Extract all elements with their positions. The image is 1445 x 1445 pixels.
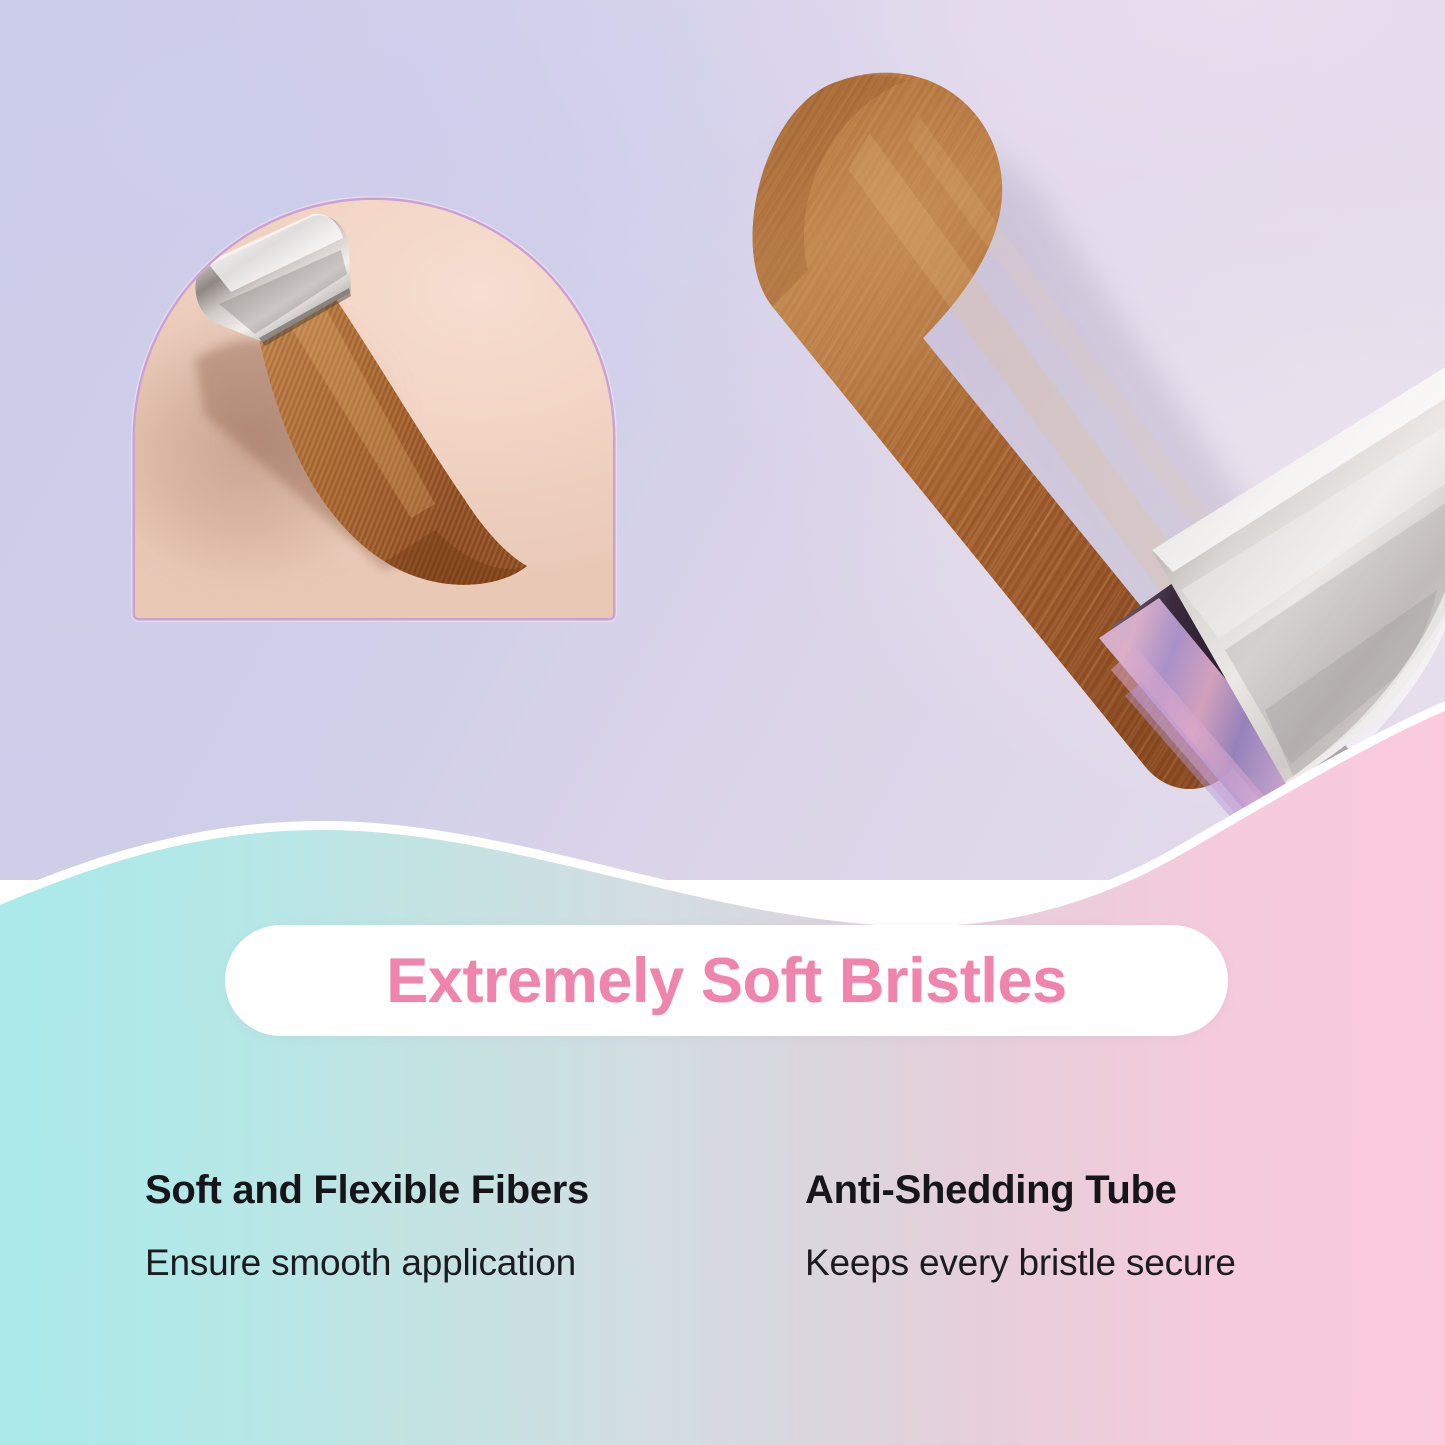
- inset-closeup-image: [135, 200, 613, 618]
- feature-subtitle: Ensure smooth application: [145, 1244, 589, 1281]
- feature-title: Soft and Flexible Fibers: [145, 1170, 589, 1210]
- feature-item-soft-flexible-fibers: Soft and Flexible Fibers Ensure smooth a…: [145, 1170, 589, 1281]
- inset-brush-svg: [135, 200, 613, 618]
- product-feature-graphic: Extremely Soft Bristles Soft and Flexibl…: [0, 0, 1445, 1445]
- feature-list: Soft and Flexible Fibers Ensure smooth a…: [0, 1170, 1445, 1310]
- feature-subtitle: Keeps every bristle secure: [805, 1244, 1236, 1281]
- page-title: Extremely Soft Bristles: [386, 945, 1067, 1017]
- feature-title: Anti-Shedding Tube: [805, 1170, 1236, 1210]
- headline-pill: Extremely Soft Bristles: [225, 925, 1228, 1036]
- inset-bristles: [257, 292, 527, 585]
- wave-divider: [0, 640, 1445, 940]
- feature-item-anti-shedding-tube: Anti-Shedding Tube Keeps every bristle s…: [805, 1170, 1236, 1281]
